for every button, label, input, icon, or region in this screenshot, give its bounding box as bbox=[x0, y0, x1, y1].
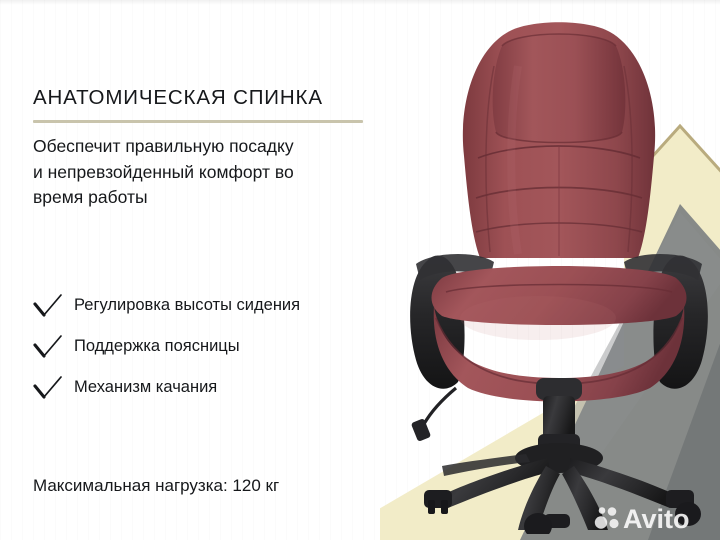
description-line-1: Обеспечит правильную посадку bbox=[33, 136, 294, 156]
check-icon bbox=[33, 293, 63, 319]
description-paragraph: Обеспечит правильную посадку и непревзой… bbox=[33, 134, 393, 211]
page-title: АНАТОМИЧЕСКАЯ СПИНКА bbox=[33, 86, 323, 110]
office-chair-photo bbox=[398, 6, 720, 534]
content-column: АНАТОМИЧЕСКАЯ СПИНКА Обеспечит правильну… bbox=[0, 0, 400, 540]
chair-castor-left bbox=[424, 490, 452, 514]
avito-watermark: Avito bbox=[592, 500, 712, 534]
check-icon bbox=[33, 334, 63, 360]
description-line-2: и непревзойденный комфорт во bbox=[33, 162, 294, 182]
list-item: Регулировка высоты сидения bbox=[33, 285, 403, 326]
check-icon bbox=[33, 375, 63, 401]
title-divider bbox=[33, 120, 363, 123]
avito-dots-icon bbox=[595, 507, 619, 529]
chair-height-lever bbox=[424, 388, 456, 424]
chair-castor-front bbox=[524, 513, 570, 534]
list-item: Механизм качания bbox=[33, 367, 403, 408]
feature-list: Регулировка высоты сидения Поддержка поя… bbox=[33, 285, 403, 408]
list-item: Поддержка поясницы bbox=[33, 326, 403, 367]
avito-wordmark: Avito bbox=[623, 504, 690, 534]
feature-label: Механизм качания bbox=[74, 378, 217, 397]
description-line-3: время работы bbox=[33, 187, 148, 207]
max-load-text: Максимальная нагрузка: 120 кг bbox=[33, 476, 279, 496]
feature-label: Поддержка поясницы bbox=[74, 337, 240, 356]
product-listing-card: АНАТОМИЧЕСКАЯ СПИНКА Обеспечит правильну… bbox=[0, 0, 720, 540]
feature-label: Регулировка высоты сидения bbox=[74, 296, 300, 315]
chair-gas-cylinder bbox=[543, 396, 575, 440]
chair-lever-handle bbox=[411, 418, 431, 442]
